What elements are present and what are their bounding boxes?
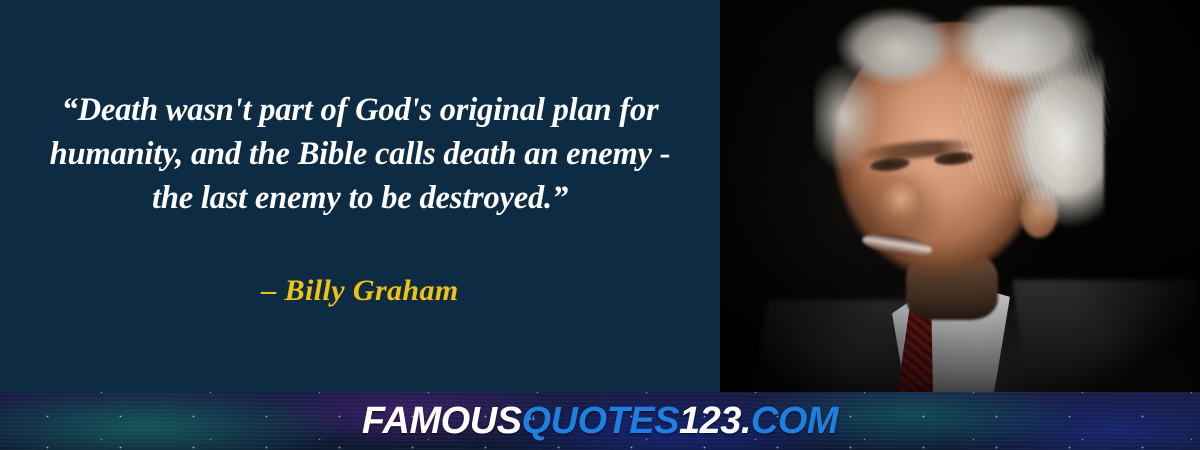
hair-wisps (960, 30, 1110, 200)
quote-text: “Death wasn't part of God's original pla… (40, 88, 680, 220)
logo-part-com: COM (751, 400, 838, 443)
quote-panel: “Death wasn't part of God's original pla… (0, 0, 720, 392)
logo-quotes-wrap: QUOTES“ (521, 400, 678, 443)
quote-image-canvas: “Death wasn't part of God's original pla… (0, 0, 1200, 450)
suit-lapel-right (1013, 280, 1200, 392)
author-portrait-photo (720, 0, 1200, 392)
logo-part-123: 123. (679, 400, 751, 443)
logo-part-quotes: QUOTES (521, 400, 678, 442)
logo-part-famous: FAMOUS (362, 400, 522, 443)
quote-author: – Billy Graham (40, 272, 680, 310)
site-logo[interactable]: FAMOUSQUOTES“123.COM (0, 392, 1200, 450)
